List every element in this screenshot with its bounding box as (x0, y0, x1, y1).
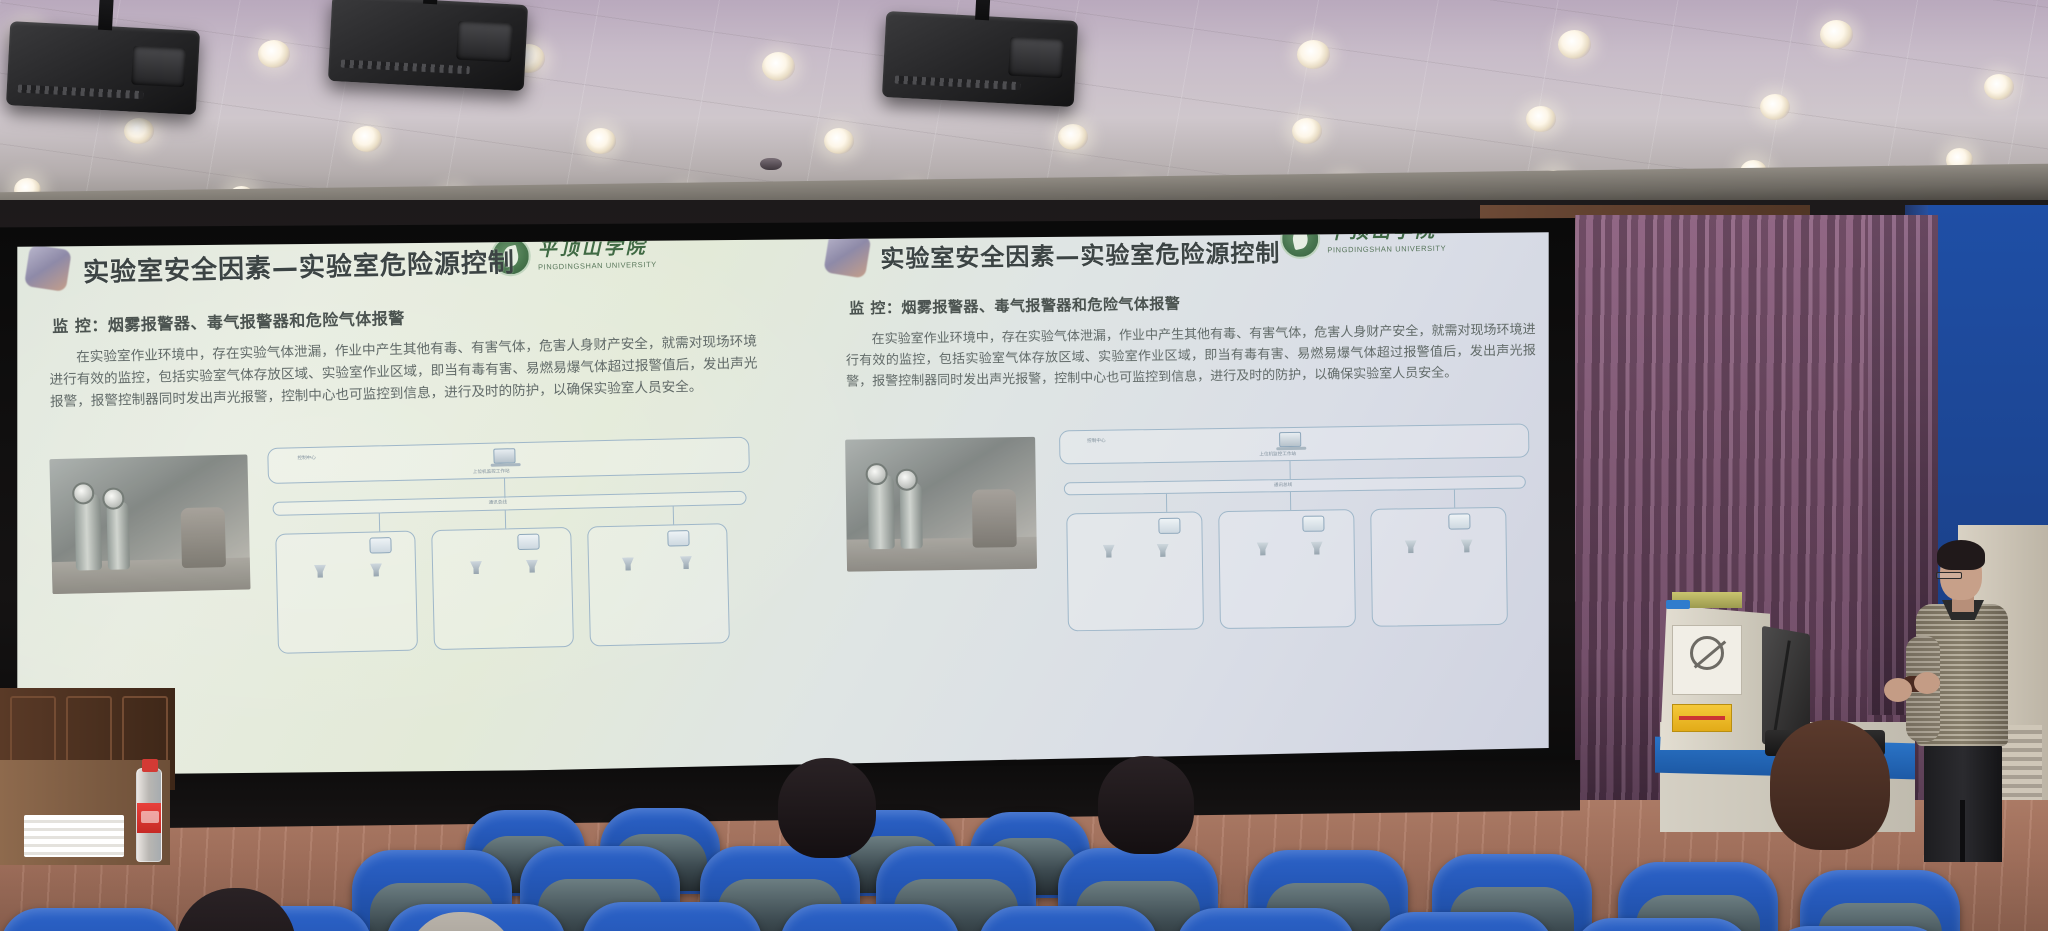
seat[interactable] (1572, 918, 1752, 931)
diagram-group-box (587, 523, 730, 646)
bottle-cap (142, 759, 158, 772)
downlight (1820, 20, 1853, 49)
lab-photo (845, 437, 1037, 572)
system-topology-diagram: 控制中心 上位机监控工作站 通讯总线 (267, 437, 752, 598)
diagram-bus-label: 通讯总线 (488, 499, 507, 505)
seat[interactable] (978, 906, 1158, 931)
seat[interactable] (1800, 870, 1960, 931)
warning-label (1672, 704, 1732, 732)
ceiling-projector (882, 11, 1078, 107)
downlight (258, 40, 290, 68)
downlight (1526, 106, 1556, 132)
lab-bench (972, 489, 1017, 548)
slide-subtitle: 监 控：烟雾报警器、毒气报警器和危险气体报警 (52, 305, 405, 337)
diagram-link (1290, 492, 1291, 510)
diagram-group-box (1066, 511, 1204, 631)
downlight (1058, 124, 1088, 150)
downlight (1558, 30, 1591, 59)
presenter-hand (1884, 678, 1912, 702)
diagram-link (379, 513, 380, 531)
projector-lens (457, 20, 514, 62)
downlight (124, 118, 154, 144)
seat[interactable] (582, 902, 762, 931)
seat[interactable] (1374, 912, 1554, 931)
diagram-link (1289, 461, 1290, 479)
diagram-controller (667, 530, 689, 547)
projector-lens (1008, 36, 1064, 78)
logo-name-en: PINGDINGSHAN UNIVERSITY (1327, 243, 1446, 254)
ceiling-projector (6, 21, 200, 115)
diagram-workstation-icon (1279, 432, 1301, 447)
gas-cylinder (900, 482, 923, 548)
smoke-detector-icon (760, 158, 782, 170)
audience-person-head (1770, 720, 1890, 850)
slide-body-text: 在实验室作业环境中，存在实验气体泄漏，作业中产生其他有毒、有害气体，危害人身财产… (49, 330, 758, 413)
slide-subtitle: 监 控：烟雾报警器、毒气报警器和危险气体报警 (849, 293, 1181, 319)
gas-cylinder (106, 501, 130, 569)
seat[interactable] (1176, 908, 1356, 931)
downlight (586, 128, 616, 154)
diagram-group-box (1218, 509, 1356, 629)
audience-person-head (176, 888, 296, 931)
ceiling-projector (328, 0, 528, 91)
eyeglasses-icon (1936, 572, 1962, 579)
diagram-controller (517, 534, 539, 551)
projector-lens (131, 46, 186, 87)
diagram-controller (1302, 516, 1324, 532)
projection-screen: 平顶山学院 PINGDINGSHAN UNIVERSITY 实验室安全因素—实验… (0, 218, 1575, 846)
diagram-controller (1158, 518, 1180, 534)
diagram-tier1-node-label: 上位机监控工作站 (1259, 451, 1296, 458)
slide-body-text: 在实验室作业环境中，存在实验气体泄漏，作业中产生其他有毒、有害气体，危害人身财产… (845, 319, 1536, 392)
diagram-controller (369, 537, 391, 554)
slide-title: 实验室安全因素—实验室危险源控制 (880, 233, 1280, 274)
diagram-tier1-label: 控制中心 (297, 455, 316, 461)
diagram-link (673, 506, 674, 524)
audience-person-head (1098, 756, 1194, 854)
diagram-bus (272, 491, 746, 516)
screen-surface: 平顶山学院 PINGDINGSHAN UNIVERSITY 实验室安全因素—实验… (8, 230, 1558, 790)
downlight (1292, 118, 1322, 144)
downlight (824, 128, 854, 154)
gas-cylinder (74, 494, 102, 571)
seat[interactable] (780, 904, 960, 931)
seat[interactable] (0, 908, 180, 931)
downlight (1760, 94, 1790, 120)
projector-vent (18, 84, 144, 99)
gas-cylinder (868, 475, 895, 549)
diagram-workstation-icon (493, 448, 515, 464)
slide-title: 实验室安全因素—实验室危险源控制 (83, 242, 516, 289)
downlight (1297, 40, 1330, 69)
blue-item (1666, 600, 1690, 609)
downlight (1984, 74, 2014, 100)
diagram-link (505, 510, 506, 528)
audience-person-head (778, 758, 876, 858)
diagram-tier1-node-label: 上位机监控工作站 (473, 468, 510, 475)
slide-panel-right: 平顶山学院 PINGDINGSHAN UNIVERSITY 实验室安全因素—实验… (818, 230, 1558, 786)
lecture-hall-scene: 平顶山学院 PINGDINGSHAN UNIVERSITY 实验室安全因素—实验… (0, 0, 2048, 931)
diagram-controller (1448, 513, 1470, 529)
downlight (762, 52, 795, 81)
diagram-link (1454, 490, 1455, 508)
logo-name-en: PINGDINGSHAN UNIVERSITY (538, 259, 657, 271)
presenter-hand (1914, 672, 1940, 694)
projector-vent (340, 60, 470, 75)
system-topology-diagram: 控制中心 上位机监控工作站 通讯总线 (1059, 423, 1531, 578)
diagram-group-box (275, 531, 418, 654)
lab-bench (181, 507, 226, 568)
diagram-group-box (1370, 507, 1508, 627)
lab-photo (49, 454, 250, 594)
projector-vent (894, 76, 1021, 91)
downlight (352, 126, 382, 152)
diagram-bus (1064, 476, 1526, 496)
diagram-bus-label: 通讯总线 (1274, 482, 1292, 488)
diagram-group-box (431, 527, 574, 650)
diagram-tier1-label: 控制中心 (1087, 438, 1105, 444)
audience-seating (0, 780, 2048, 931)
presenter-hair (1937, 540, 1985, 570)
diagram-link (1166, 494, 1167, 512)
title-badge-icon (24, 244, 72, 292)
no-smoking-icon (1690, 636, 1724, 670)
